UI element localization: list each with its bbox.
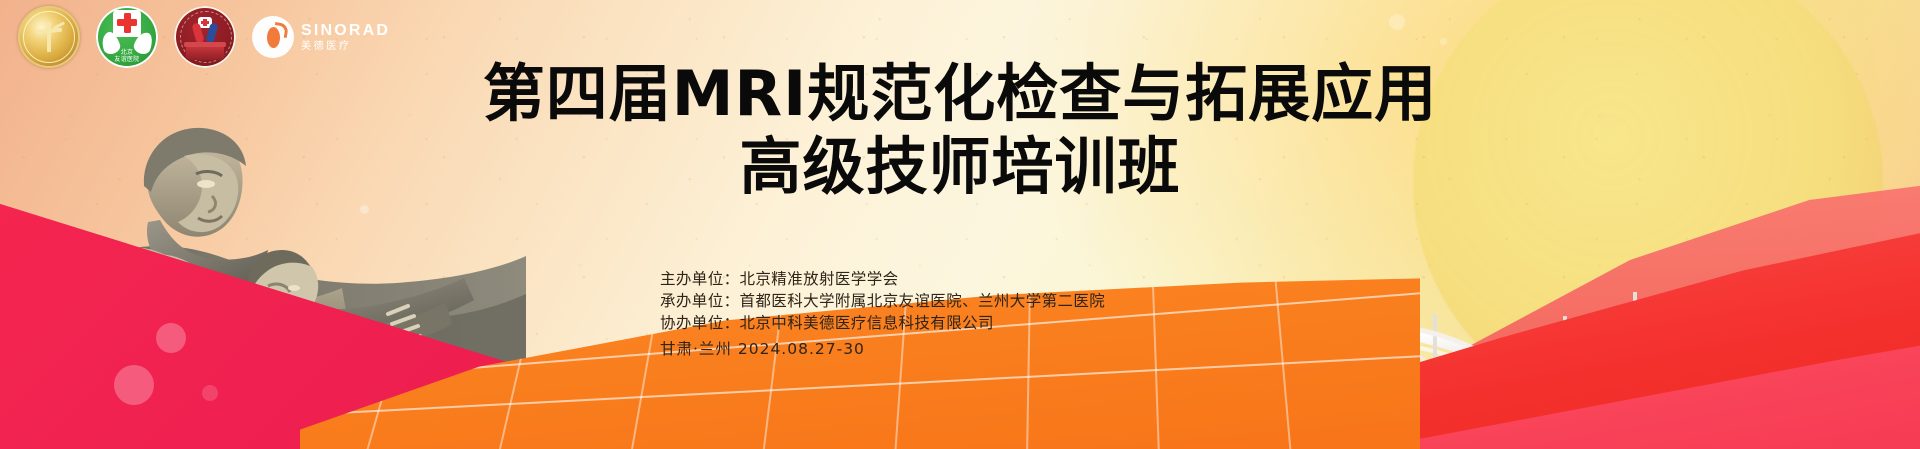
organizer-info-block: 主办单位：北京精准放射医学学会 承办单位：首都医科大学附属北京友谊医院、兰州大学…	[660, 268, 1105, 360]
lanzhou-university-second-hospital-logo[interactable]	[174, 6, 236, 68]
beijing-precision-radiology-society-logo[interactable]	[18, 6, 80, 68]
beijing-friendship-hospital-logo[interactable]: 北京 友谊医院	[96, 6, 158, 68]
sparkle-dot	[1440, 38, 1447, 45]
sinorad-name-en: SINORAD	[301, 23, 390, 39]
sinorad-name-cn: 美德医疗	[301, 42, 390, 52]
bubble-dot	[202, 385, 218, 401]
red-cross-icon	[117, 19, 137, 26]
hospital-logo-caption: 北京 友谊医院	[96, 50, 158, 63]
bubble-dot	[156, 323, 186, 353]
organizer-line-host: 主办单位：北京精准放射医学学会	[660, 268, 1105, 290]
sparkle-dot	[1389, 14, 1405, 30]
sinorad-mark-icon	[252, 16, 294, 58]
sinorad-wordmark: SINORAD 美德医疗	[301, 23, 390, 52]
organizer-line-coorganizer: 协办单位：北京中科美德医疗信息科技有限公司	[660, 312, 1105, 334]
gold-emblem-icon	[36, 22, 62, 52]
organizer-line-undertaker: 承办单位：首都医科大学附属北京友谊医院、兰州大学第二医院	[660, 290, 1105, 312]
event-place-date: 甘肃·兰州 2024.08.27-30	[660, 338, 1105, 360]
conference-banner: 北京 友谊医院 SINORAD 美德医疗 第四届MRI规范化检查与拓展应用 高级…	[0, 0, 1920, 449]
sinorad-mark-accent	[273, 22, 289, 38]
building-icon	[186, 46, 224, 60]
sinorad-logo[interactable]: SINORAD 美德医疗	[252, 16, 390, 58]
sponsor-logo-row: 北京 友谊医院 SINORAD 美德医疗	[18, 6, 390, 68]
bubble-dot	[114, 365, 154, 405]
